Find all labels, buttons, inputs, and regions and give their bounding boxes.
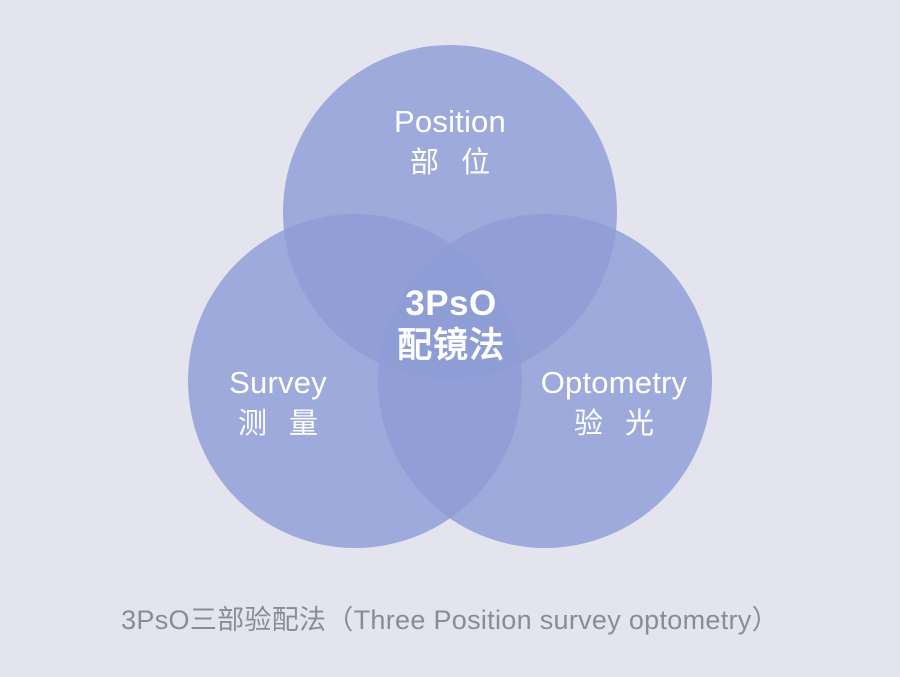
- venn-label-optometry: Optometry 验 光: [541, 365, 688, 441]
- venn-label-optometry-english: Optometry: [541, 365, 688, 402]
- venn-diagram-figure: Position 部 位 Survey 测 量 Optometry 验 光 3P…: [0, 0, 900, 677]
- figure-caption: 3PsO三部验配法（Three Position survey optometr…: [0, 598, 900, 637]
- venn-intersection-label: 3PsO 配镜法: [397, 284, 505, 365]
- venn-label-survey-english: Survey: [229, 365, 327, 402]
- venn-label-position-chinese: 部 位: [394, 146, 506, 180]
- venn-label-optometry-chinese: 验 光: [541, 407, 688, 441]
- venn-label-position-english: Position: [394, 104, 506, 141]
- venn-label-survey-chinese: 测 量: [229, 407, 327, 441]
- venn-intersection-english: 3PsO: [397, 284, 505, 323]
- venn-diagram-stage: Position 部 位 Survey 测 量 Optometry 验 光 3P…: [0, 0, 900, 580]
- venn-intersection-chinese: 配镜法: [397, 326, 505, 365]
- venn-label-position: Position 部 位: [394, 104, 506, 180]
- venn-label-survey: Survey 测 量: [229, 365, 327, 441]
